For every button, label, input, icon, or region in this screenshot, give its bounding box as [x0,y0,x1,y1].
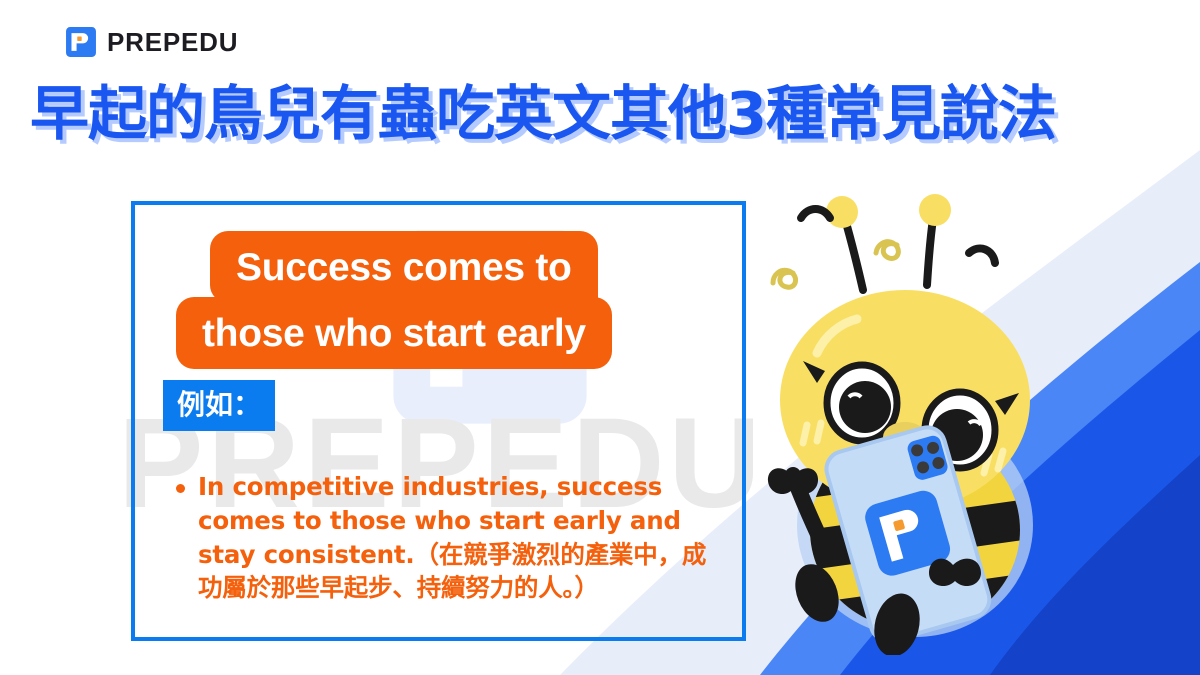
phrase-line-2: those who start early [176,297,612,369]
antenna-left [845,219,863,290]
example-label: 例如： [163,380,275,431]
phrase-line-1: Success comes to [210,231,598,303]
antenna-ball-left [826,196,858,228]
bullet-dot-icon [176,484,185,493]
slide-canvas: PREPEDU PREPEDU 早起的鳥兒有蟲吃英文其他3種常見說法 Succe… [0,0,1200,675]
brand-logo[interactable]: PREPEDU [64,22,238,62]
bee-mascot [745,185,1075,655]
prepedu-logo-icon [64,25,98,59]
page-title: 早起的鳥兒有蟲吃英文其他3種常見說法 [30,82,1190,146]
bullet-text: In competitive industries, success comes… [198,470,721,605]
list-item: In competitive industries, success comes… [176,470,721,605]
sparkle-arc-1 [801,209,830,218]
highlight-phrase: Success comes to those who start early [176,231,736,369]
antenna-ball-right [919,194,951,226]
sparkle-curl-2 [876,242,898,259]
sparkle-curl-1 [773,270,796,287]
brand-name: PREPEDU [107,29,238,55]
sparkle-arc-2 [969,248,995,263]
antenna-right [927,219,933,285]
